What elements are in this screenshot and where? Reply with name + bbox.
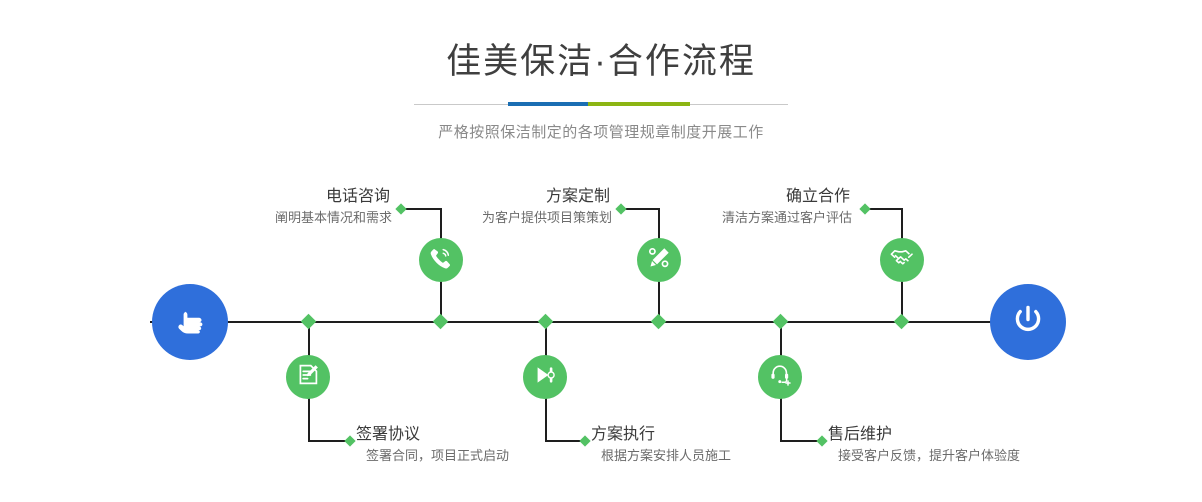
axis-node-3	[651, 314, 667, 330]
step-icon-6[interactable]	[758, 355, 802, 399]
document-pen-icon	[296, 362, 321, 392]
flowchart-page: 佳美保洁·合作流程 严格按照保洁制定的各项管理规章制度开展工作	[0, 0, 1202, 502]
step-title-3: 方案定制	[340, 186, 612, 208]
phone-ring-icon	[428, 245, 454, 276]
step-title-6: 售后维护	[828, 424, 1158, 446]
pencil-compass-icon	[646, 245, 672, 276]
step-icon-5[interactable]	[880, 238, 924, 282]
divider-segment-blue	[508, 102, 588, 106]
headset-agent-icon	[768, 362, 793, 392]
page-subtitle: 严格按照保洁制定的各项管理规章制度开展工作	[0, 121, 1202, 142]
end-endpoint[interactable]	[990, 284, 1066, 360]
step-desc-3: 为客户提供项目策策划	[340, 208, 612, 228]
page-header: 佳美保洁·合作流程 严格按照保洁制定的各项管理规章制度开展工作	[0, 0, 1202, 142]
label-node-5	[859, 203, 870, 214]
step-desc-5: 清洁方案通过客户评估	[580, 208, 852, 228]
divider-segment-green	[588, 102, 690, 106]
step-icon-1[interactable]	[419, 238, 463, 282]
step-label-3: 方案定制 为客户提供项目策策划	[340, 186, 612, 228]
pointing-hand-icon	[170, 300, 210, 345]
axis-node-4	[538, 314, 554, 330]
axis-node-2	[301, 314, 317, 330]
label-node-2	[344, 435, 355, 446]
step-icon-4[interactable]	[523, 355, 567, 399]
title-divider	[414, 100, 788, 110]
axis-node-6	[773, 314, 789, 330]
step-label-6: 售后维护 接受客户反馈，提升客户体验度	[828, 424, 1158, 466]
page-title: 佳美保洁·合作流程	[0, 36, 1202, 88]
step-title-5: 确立合作	[580, 186, 852, 208]
step-desc-6: 接受客户反馈，提升客户体验度	[828, 446, 1158, 466]
timeline-axis	[150, 321, 1052, 323]
step-label-5: 确立合作 清洁方案通过客户评估	[580, 186, 852, 228]
handshake-icon	[889, 245, 915, 276]
step-icon-2[interactable]	[286, 355, 330, 399]
step-icon-3[interactable]	[637, 238, 681, 282]
start-endpoint[interactable]	[152, 284, 228, 360]
axis-node-1	[433, 314, 449, 330]
axis-node-5	[894, 314, 910, 330]
play-execute-icon	[533, 363, 557, 392]
power-button-icon	[1007, 299, 1049, 346]
